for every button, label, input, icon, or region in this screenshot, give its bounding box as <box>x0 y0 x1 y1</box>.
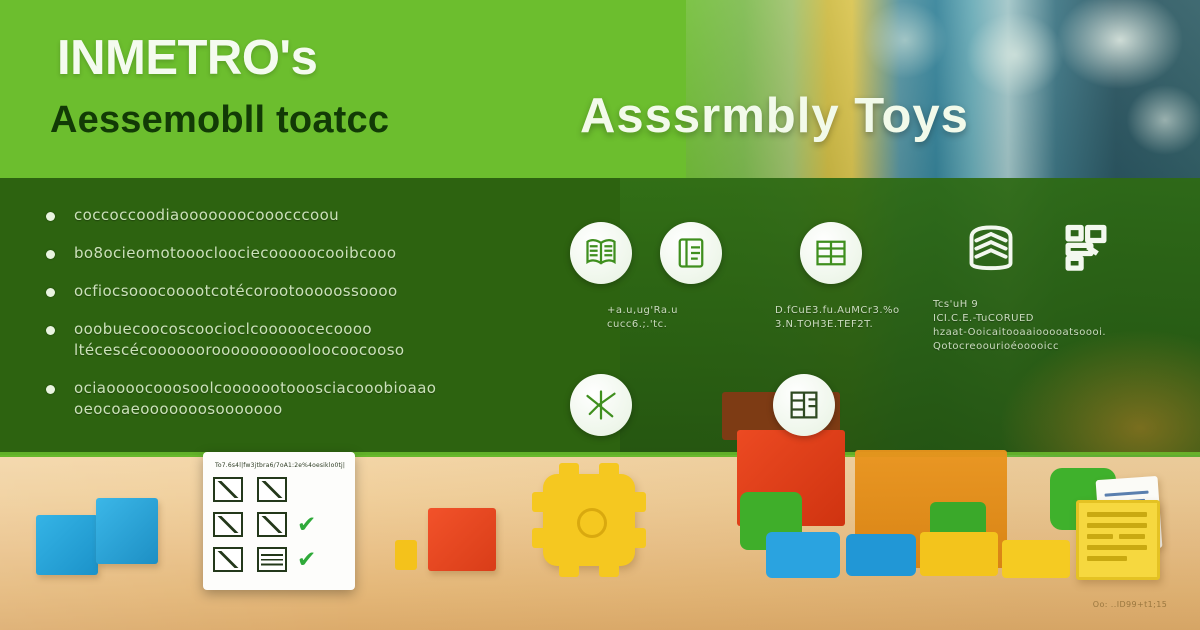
bullet-dot-icon <box>46 288 55 297</box>
open-book-icon[interactable] <box>570 222 632 284</box>
checklist-card[interactable]: To7.6s4l|fw3jtbra6/7oA1:2e%4oesiklo0tj|r… <box>203 452 355 590</box>
caption-right-line4: Qotocreoourioéooooicc <box>933 340 1183 354</box>
checklist-title: To7.6s4l|fw3jtbra6/7oA1:2e%4oesiklo0tj|r… <box>215 462 345 469</box>
checkmark-icon: ✔ <box>297 515 321 535</box>
list-item: bo8ocieomotooocloociecooooocooibcooo <box>46 243 516 264</box>
document-caption: Oo: ..ID99+t1;15 <box>1060 600 1200 609</box>
bullet-text: ociaoooocooosoolcooooootooosciacooobioaa… <box>74 378 516 420</box>
caption-mid-line2: 3.N.TOH3E.TEF2T. <box>775 318 955 332</box>
feature-bullet-list: coccoccoodiaooooooocooocccoou bo8ocieomo… <box>46 205 516 437</box>
list-item: ocfiocsooocooootcotécorootooooossoooo <box>46 281 516 302</box>
bullet-text: coccoccoodiaooooooocooocccoou <box>74 205 339 226</box>
caption-right-line3: hzaat-Ooicaitooaaiooooatsoooi. <box>933 326 1183 340</box>
report-layout-icon[interactable] <box>1055 216 1117 278</box>
caption-left-line2: cucc6.;.'tc. <box>607 318 767 332</box>
bullet-dot-icon <box>46 326 55 335</box>
checkbox-left[interactable] <box>213 512 243 537</box>
checkbox-left[interactable] <box>213 547 243 572</box>
bullet-dot-icon <box>46 385 55 394</box>
page-title-right: Asssrmbly Toys <box>580 88 969 144</box>
caption-right-line2: ICI.C.E.-TuCORUED <box>933 312 1183 326</box>
caption-right: Tcs'uH 9 ICI.C.E.-TuCORUED hzaat-Ooicait… <box>933 298 1183 354</box>
document-page-icon[interactable] <box>660 222 722 284</box>
scatter-lines-icon[interactable] <box>570 374 632 436</box>
list-item: ooobuecoocoscoocioclcooooocecoooo ltéces… <box>46 319 516 361</box>
wooden-table-surface <box>0 457 1200 630</box>
caption-right-line1: Tcs'uH 9 <box>933 298 1183 312</box>
caption-mid-line1: D.fCuE3.fu.AuMCr3.%o <box>775 304 955 318</box>
checkbox-right-lines[interactable] <box>257 547 287 572</box>
infographic-banner: INMETRO's Aessemobll toatcc Asssrmbly To… <box>0 0 1200 630</box>
checkbox-left[interactable] <box>213 477 243 502</box>
bullet-dot-icon <box>46 250 55 259</box>
bullet-dot-icon <box>46 212 55 221</box>
stacked-pages-icon[interactable] <box>960 216 1022 278</box>
list-item: coccoccoodiaooooooocooocccoou <box>46 205 516 226</box>
checklist-row[interactable]: ✔ <box>213 512 345 537</box>
page-subtitle: Aessemobll toatcc <box>50 99 389 142</box>
checklist-row[interactable]: ✔ <box>213 547 345 572</box>
caption-mid: D.fCuE3.fu.AuMCr3.%o 3.N.TOH3E.TEF2T. <box>775 304 955 332</box>
bullet-text: bo8ocieomotooocloociecooooocooibcooo <box>74 243 396 264</box>
ledger-book-icon[interactable] <box>800 222 862 284</box>
list-item: ociaoooocooosoolcooooootooosciacooobioaa… <box>46 378 516 420</box>
checkmark-icon: ✔ <box>297 550 321 570</box>
yellow-document-icon <box>1076 500 1160 580</box>
form-sheet-icon[interactable] <box>773 374 835 436</box>
bullet-text: ocfiocsooocooootcotécorootooooossoooo <box>74 281 398 302</box>
bullet-text: ooobuecoocoscoocioclcooooocecoooo ltéces… <box>74 319 516 361</box>
caption-left-line1: +a.u,ug'Ra.u <box>607 304 767 318</box>
checkbox-right[interactable] <box>257 477 287 502</box>
checkbox-right[interactable] <box>257 512 287 537</box>
checklist-row[interactable]: ✔ <box>213 477 345 502</box>
caption-left: +a.u,ug'Ra.u cucc6.;.'tc. <box>607 304 767 332</box>
page-title: INMETRO's <box>57 30 317 86</box>
icon-badge-grid: +a.u,ug'Ra.u cucc6.;.'tc. D.fCuE3.fu.AuM… <box>565 222 1185 442</box>
